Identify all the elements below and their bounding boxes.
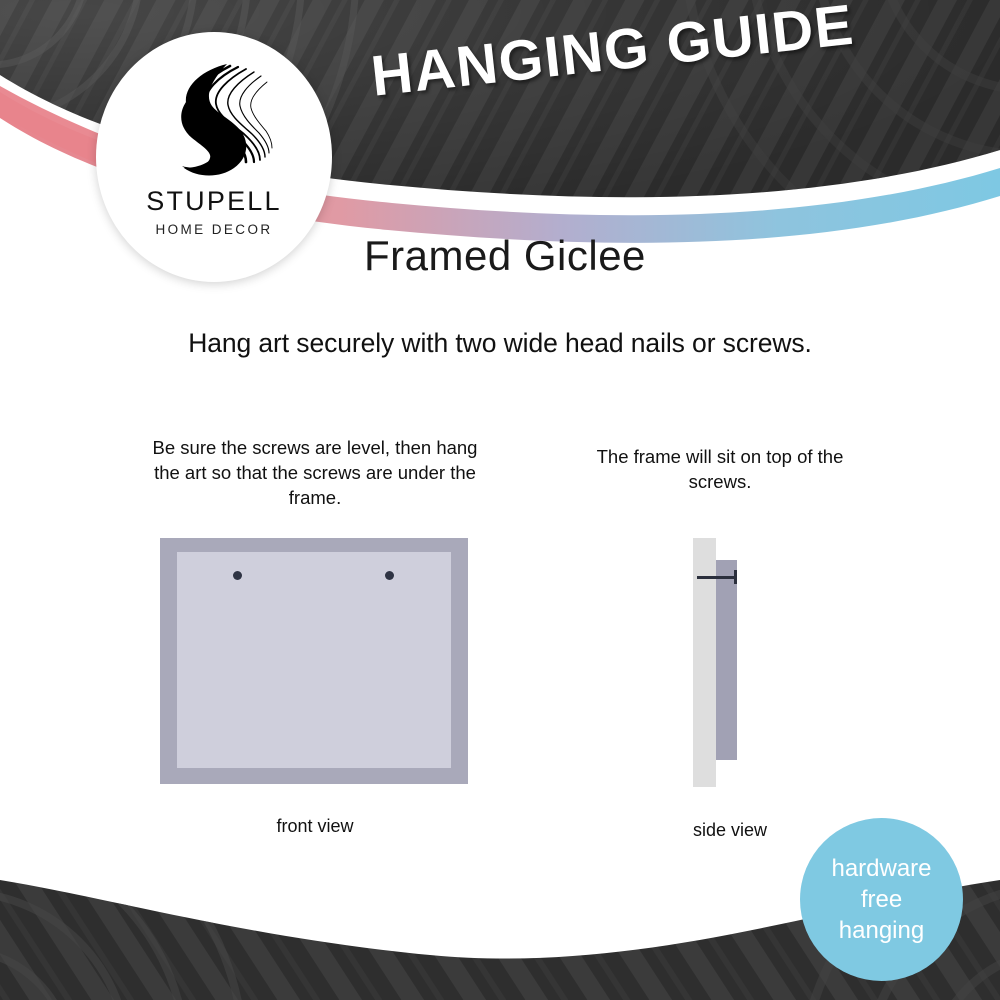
product-type-heading: Framed Giclee [364,232,646,280]
front-view-mat [177,552,451,768]
main-instruction-text: Hang art securely with two wide head nai… [0,328,1000,359]
stupell-logo-badge: STUPELL HOME DECOR [96,32,332,282]
front-view-frame-diagram [160,538,468,784]
side-view-caption: The frame will sit on top of the screws. [575,444,865,494]
side-view-frame [716,560,737,760]
stupell-swoosh-icon [150,58,278,184]
nail-shaft-icon [697,576,737,579]
badge-line-1: hardware [831,853,931,884]
front-view-caption: Be sure the screws are level, then hang … [150,435,480,510]
screw-dot-right [385,571,394,580]
nail-head-icon [734,570,737,584]
logo-wordmark: STUPELL [146,186,281,217]
badge-line-3: hanging [839,915,924,946]
hanging-guide-page: STUPELL HOME DECOR HANGING GUIDE Framed … [0,0,1000,1000]
front-view-label: front view [160,816,470,837]
hardware-free-hanging-badge: hardware free hanging [800,818,963,981]
screw-dot-left [233,571,242,580]
logo-subwordmark: HOME DECOR [155,222,272,237]
page-title: HANGING GUIDE [368,0,857,110]
side-view-label: side view [610,820,850,841]
badge-line-2: free [861,884,902,915]
